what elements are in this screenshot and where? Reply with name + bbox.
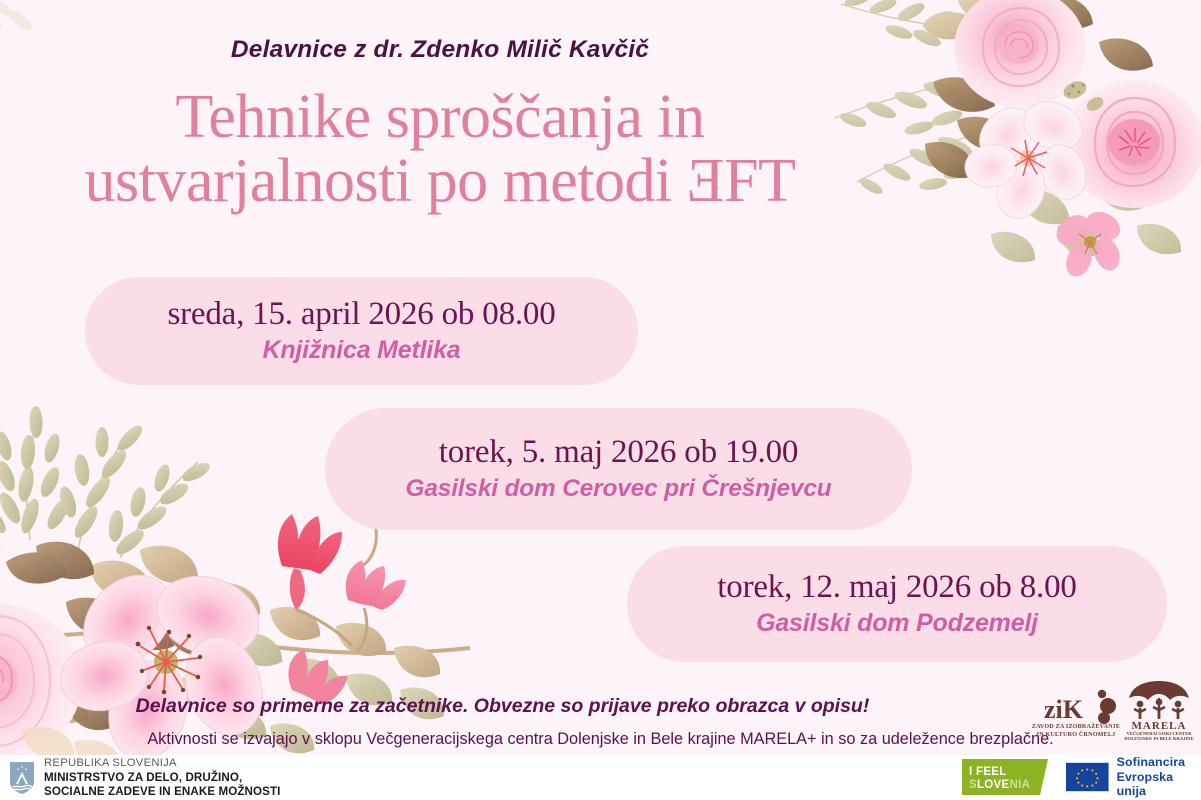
government-logo-block: REPUBLIKA SLOVENIJA MINISTRSTVO ZA DELO,… <box>8 757 280 799</box>
event-pill-1[interactable]: sreda, 15. april 2026 ob 08.00 Knjižnica… <box>85 277 638 385</box>
event-1-location: Knjižnica Metlika <box>262 336 460 365</box>
svg-text:I FEEL: I FEEL <box>969 766 1007 778</box>
eu-funding-text: Sofinancira Evropska unija <box>1117 755 1196 800</box>
registration-note: Delavnice so primerne za začetnike. Obve… <box>0 695 1005 718</box>
poster-canvas: Delavnice z dr. Zdenko Milič Kavčič Tehn… <box>0 0 1201 800</box>
svg-text:DOLENJSKE IN BELE KRAJINE: DOLENJSKE IN BELE KRAJINE <box>1124 736 1193 741</box>
marela-logo: MARELA VEČGENERACIJSKI CENTER DOLENJSKE … <box>1122 678 1196 742</box>
event-1-datetime: sreda, 15. april 2026 ob 08.00 <box>167 297 555 332</box>
event-pill-3[interactable]: torek, 12. maj 2026 ob 8.00 Gasilski dom… <box>627 546 1167 662</box>
eu-flag-icon <box>1066 761 1109 793</box>
government-line-2: MINISTRSTVO ZA DELO, DRUŽINO, <box>44 771 280 785</box>
poster-title: Tehnike sproščanja in ustvarjalnosti po … <box>0 86 880 214</box>
eu-line-2: Evropska unija <box>1117 770 1196 800</box>
zik-logo: ziK ZAVOD ZA IZOBRAŽEVANJE IN KULTURO ČR… <box>1030 684 1122 742</box>
svg-text:SLOVENIA: SLOVENIA <box>969 779 1030 791</box>
eu-funding-logo: Sofinancira Evropska unija <box>1066 761 1196 793</box>
government-logo-text: REPUBLIKA SLOVENIJA MINISTRSTVO ZA DELO,… <box>44 757 280 799</box>
slovenia-coat-of-arms-icon <box>8 760 36 796</box>
title-eft-ft: FT <box>724 147 795 215</box>
title-line-2-text: ustvarjalnosti po metodi <box>85 147 687 215</box>
svg-text:ziK: ziK <box>1044 695 1084 724</box>
government-line-1: REPUBLIKA SLOVENIJA <box>44 757 280 771</box>
title-eft-reversed-e: E <box>687 150 724 214</box>
svg-text:IN KULTURO ČRNOMELJ: IN KULTURO ČRNOMELJ <box>1037 730 1116 738</box>
title-line-2: ustvarjalnosti po metodi EFT <box>0 150 880 214</box>
government-line-3: SOCIALNE ZADEVE IN ENAKE MOŽNOSTI <box>44 785 280 799</box>
poster-subtitle: Delavnice z dr. Zdenko Milič Kavčič <box>0 36 880 64</box>
title-line-1: Tehnike sproščanja in <box>175 83 704 151</box>
event-2-datetime: torek, 5. maj 2026 ob 19.00 <box>439 435 798 470</box>
eu-line-1: Sofinancira <box>1117 755 1196 770</box>
event-3-datetime: torek, 12. maj 2026 ob 8.00 <box>717 570 1076 605</box>
funding-note: Aktivnosti se izvajajo v sklopu Večgener… <box>0 730 1201 749</box>
event-pill-2[interactable]: torek, 5. maj 2026 ob 19.00 Gasilski dom… <box>325 408 912 530</box>
i-feel-slovenia-logo: I FEEL SLOVENIA <box>962 759 1054 795</box>
event-3-location: Gasilski dom Podzemelj <box>756 609 1038 638</box>
svg-text:ZAVOD ZA IZOBRAŽEVANJE: ZAVOD ZA IZOBRAŽEVANJE <box>1032 722 1120 730</box>
event-2-location: Gasilski dom Cerovec pri Črešnjevcu <box>405 475 831 503</box>
